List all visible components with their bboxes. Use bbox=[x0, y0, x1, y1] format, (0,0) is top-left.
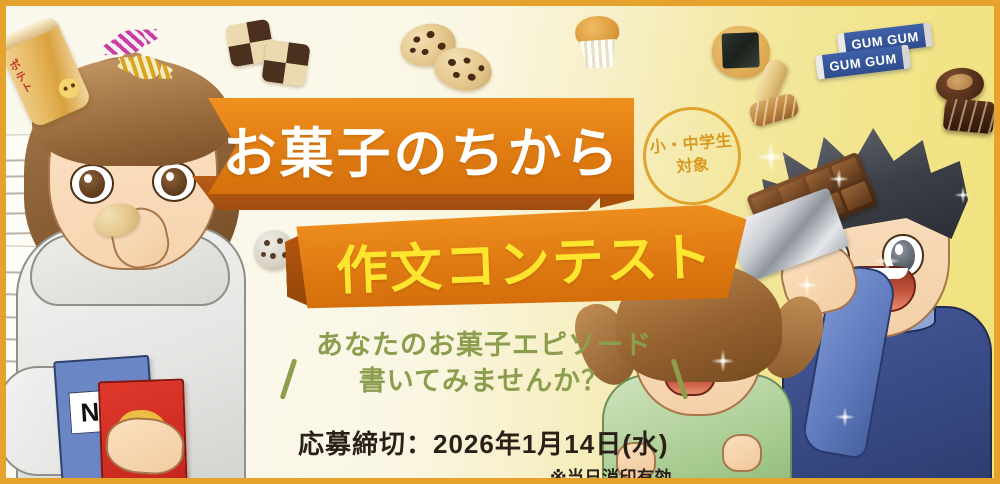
sparkle-icon bbox=[790, 268, 824, 302]
sweet-gum-stick: GUM GUM bbox=[815, 44, 911, 79]
deadline-block: 応募締切：2026年1月14日(水) ※当日消印有効 bbox=[298, 424, 678, 484]
fist bbox=[722, 434, 762, 472]
sweet-muffin bbox=[568, 14, 628, 74]
sparkle-icon bbox=[868, 242, 906, 280]
banner-primary: お菓子のちから bbox=[178, 98, 634, 208]
gum-label: GUM GUM bbox=[828, 50, 897, 73]
eye bbox=[70, 164, 114, 204]
sweet-truffle-bar bbox=[943, 98, 996, 134]
banner-secondary: 作文コンテスト bbox=[296, 203, 750, 324]
poster-root: N bbox=[0, 0, 1000, 484]
subtitle-line-1: あなたのお菓子エピソード bbox=[294, 328, 674, 364]
sweet-checkerboard-cookie bbox=[261, 39, 310, 87]
subtitle-line-2: 書いてみませんか？ bbox=[294, 364, 674, 400]
badge-line-2: 対象 bbox=[676, 155, 711, 179]
deadline-note: ※当日消印有効 bbox=[298, 463, 678, 484]
sparkle-icon bbox=[748, 134, 794, 180]
banner-secondary-text: 作文コンテスト bbox=[318, 206, 731, 312]
sparkle-icon bbox=[706, 344, 740, 378]
deadline-date: 応募締切：2026年1月14日(水) bbox=[298, 424, 678, 461]
subtitle-block: あなたのお菓子エピソード 書いてみませんか？ bbox=[294, 328, 674, 399]
banner-primary-text: お菓子のちから bbox=[232, 102, 612, 194]
sparkle-icon bbox=[824, 164, 854, 194]
sparkle-icon bbox=[950, 182, 976, 208]
sparkle-icon bbox=[830, 402, 860, 432]
